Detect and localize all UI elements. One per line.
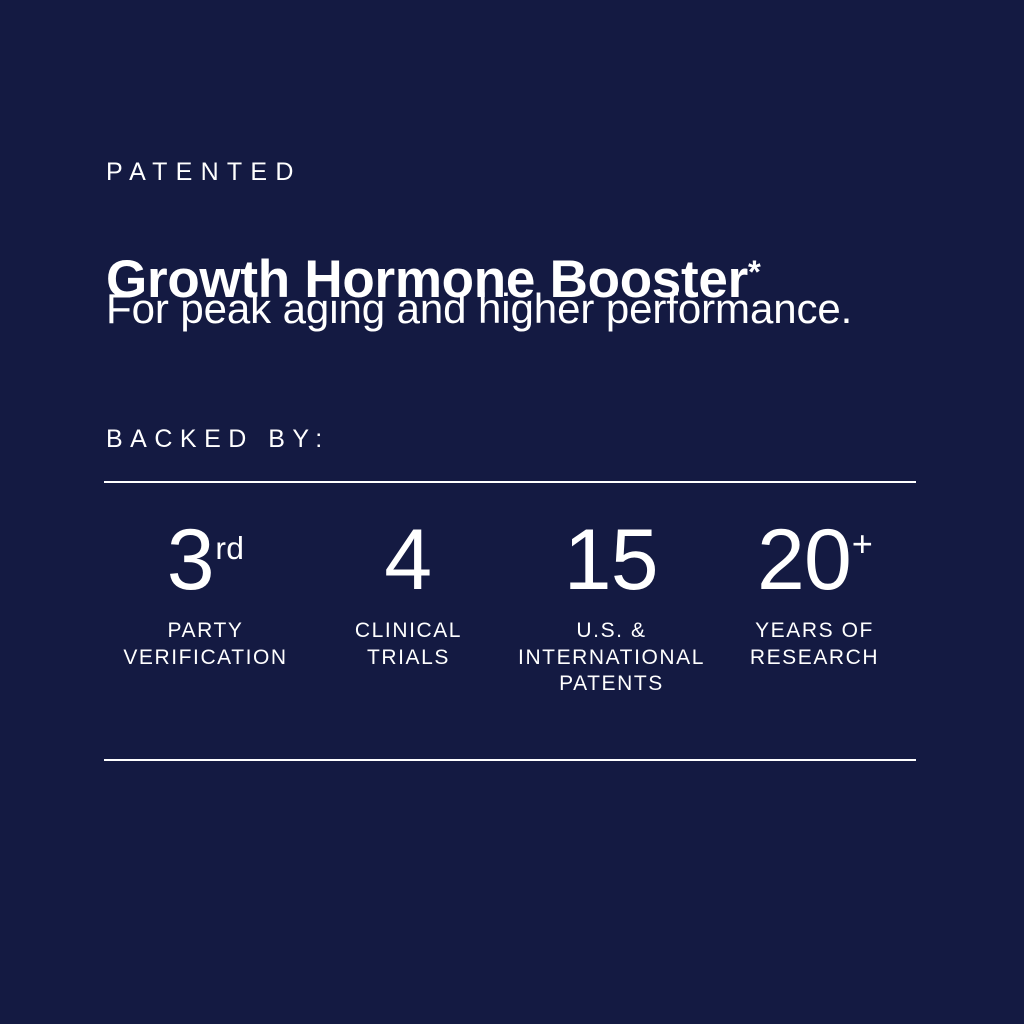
eyebrow-label: PATENTED xyxy=(106,160,302,185)
stat-number: 20 xyxy=(757,512,851,608)
stat-suffix: + xyxy=(852,523,872,564)
stat-value: 4 xyxy=(311,518,506,602)
stat-item: 20+ YEARS OF RESEARCH xyxy=(713,518,916,671)
stat-label-line: YEARS OF xyxy=(717,618,912,644)
divider-bottom xyxy=(104,759,916,761)
stat-label-line: PATENTS xyxy=(514,671,709,697)
stat-label-line: U.S. & xyxy=(514,618,709,644)
stat-number: 15 xyxy=(564,512,658,608)
stat-label-line: RESEARCH xyxy=(717,645,912,671)
stat-label-line: INTERNATIONAL xyxy=(514,645,709,671)
stat-number: 4 xyxy=(384,512,431,608)
stat-label-line: TRIALS xyxy=(311,645,506,671)
stat-value: 20+ xyxy=(717,518,912,602)
stat-label-line: PARTY xyxy=(108,618,303,644)
stat-item: 15 U.S. & INTERNATIONAL PATENTS xyxy=(510,518,713,698)
subheadline: For peak aging and higher performance. xyxy=(106,286,852,332)
stat-label: PARTY VERIFICATION xyxy=(108,618,303,671)
stats-row: 3rd PARTY VERIFICATION 4 CLINICAL TRIALS… xyxy=(104,518,916,698)
stat-label: CLINICAL TRIALS xyxy=(311,618,506,671)
stat-label-line: CLINICAL xyxy=(311,618,506,644)
stat-value: 15 xyxy=(514,518,709,602)
stat-label: U.S. & INTERNATIONAL PATENTS xyxy=(514,618,709,697)
section-label-backed-by: BACKED BY: xyxy=(106,427,330,452)
stat-label-line: VERIFICATION xyxy=(108,645,303,671)
stat-item: 3rd PARTY VERIFICATION xyxy=(104,518,307,671)
stat-item: 4 CLINICAL TRIALS xyxy=(307,518,510,671)
stat-number: 3 xyxy=(167,512,214,608)
divider-top xyxy=(104,481,916,483)
stat-label: YEARS OF RESEARCH xyxy=(717,618,912,671)
stat-suffix: rd xyxy=(215,530,244,566)
promo-card: PATENTED Growth Hormone Booster* For pea… xyxy=(0,0,1024,1024)
stat-value: 3rd xyxy=(108,518,303,602)
